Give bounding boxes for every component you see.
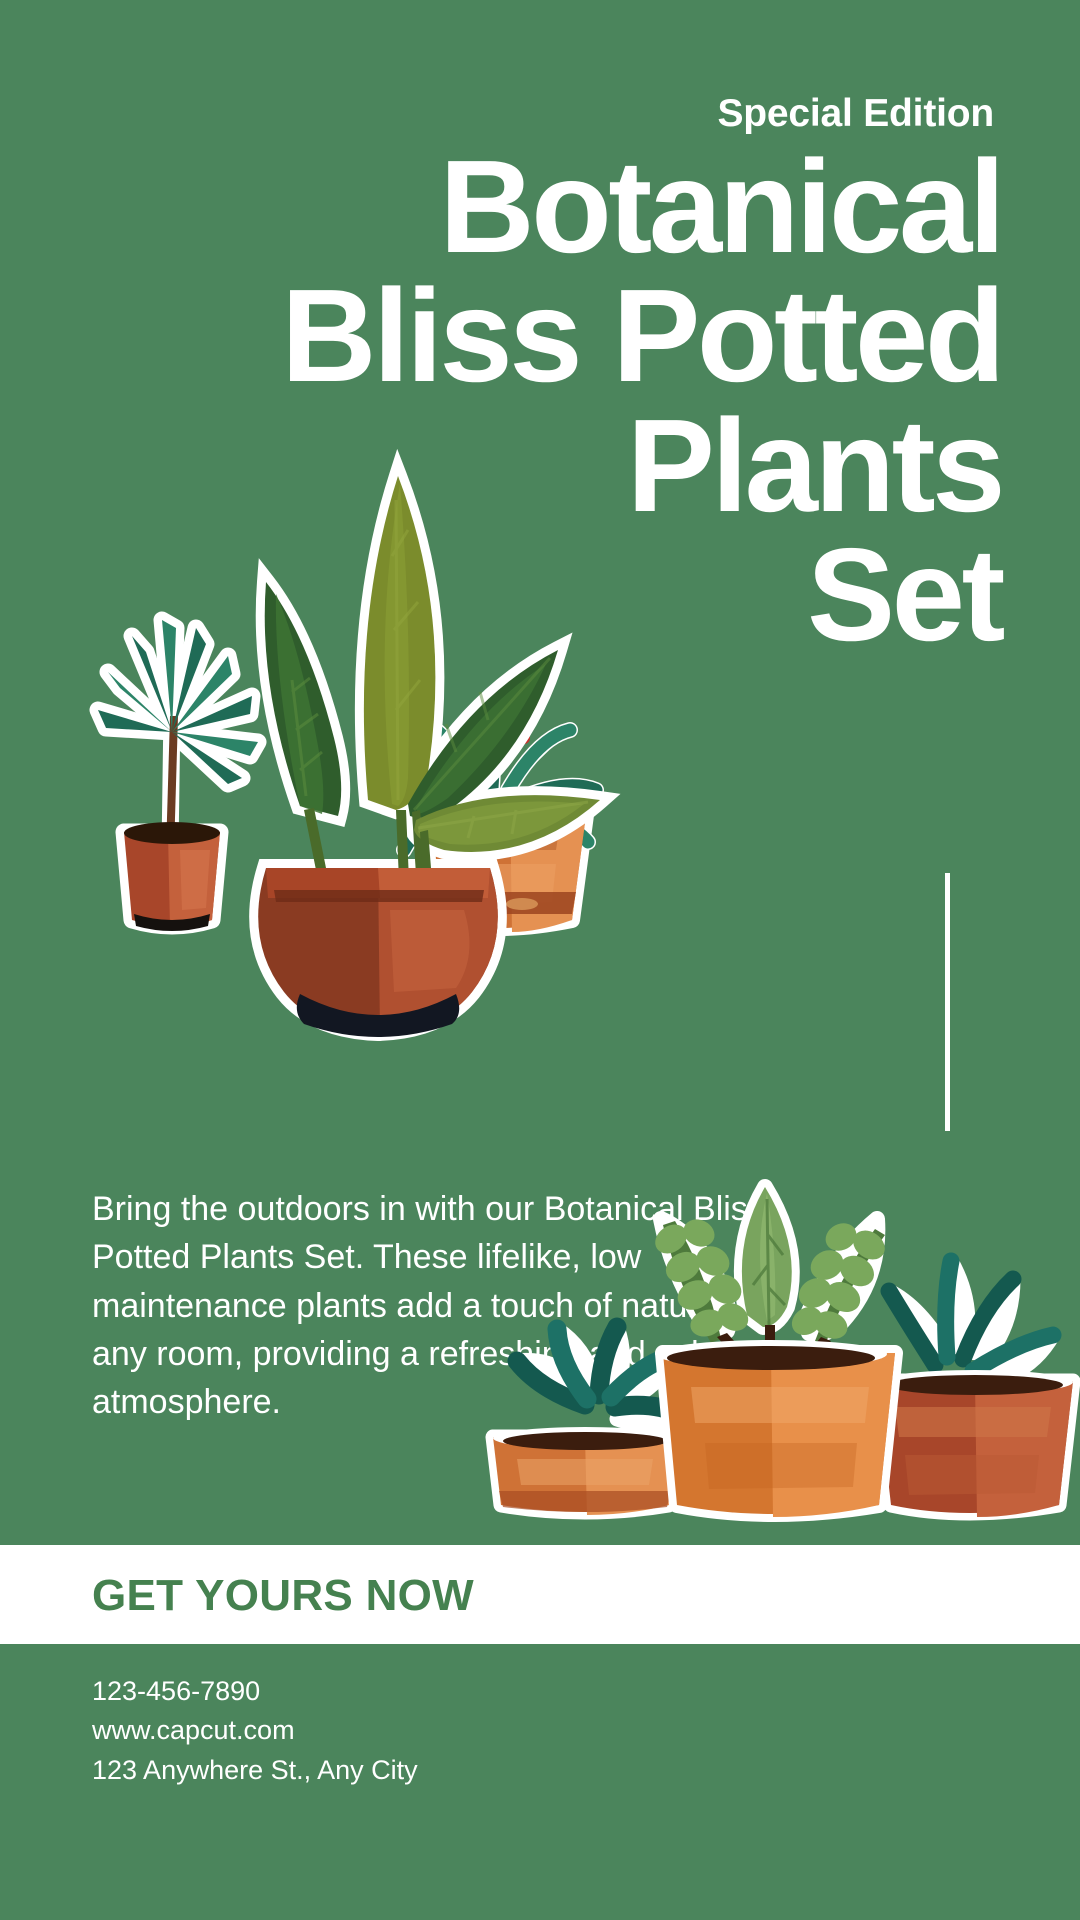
eyebrow-label: Special Edition <box>717 92 994 136</box>
hero-potted-plants-illustration <box>60 380 660 970</box>
footer-website: www.capcut.com <box>92 1711 418 1750</box>
vertical-rule-divider <box>945 873 950 1131</box>
zz-plant <box>650 1187 895 1517</box>
bottom-potted-plants-illustration <box>465 1175 1080 1520</box>
footer-contact-block: 123-456-7890 www.capcut.com 123 Anywhere… <box>92 1672 418 1790</box>
footer-address: 123 Anywhere St., Any City <box>92 1751 418 1790</box>
fan-palm-plant <box>98 620 258 931</box>
agave-grass-plant <box>877 1261 1073 1517</box>
teal-succulent-plant <box>493 1327 681 1515</box>
cta-label[interactable]: GET YOURS NOW <box>92 1571 474 1621</box>
banana-leaf-plant <box>258 476 600 1037</box>
footer-phone: 123-456-7890 <box>92 1672 418 1711</box>
poster-canvas: Special Edition Botanical Bliss Potted P… <box>0 0 1080 1920</box>
headline-line-1: Botanical <box>60 142 1002 271</box>
